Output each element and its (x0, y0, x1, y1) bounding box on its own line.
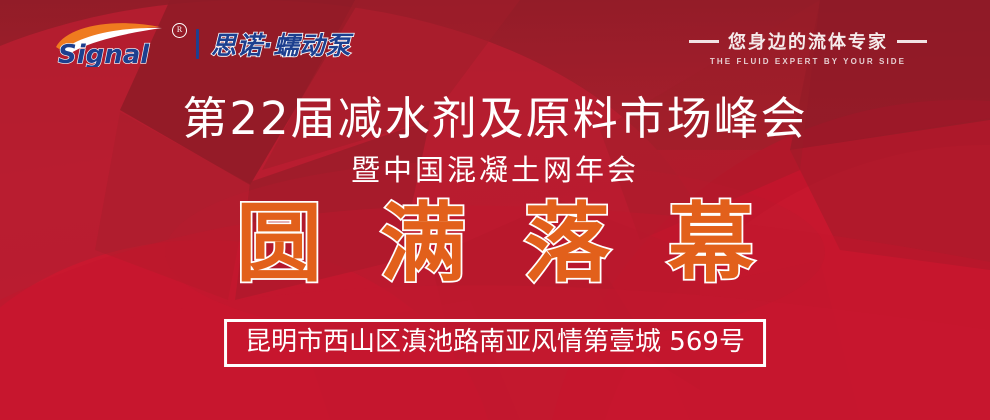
event-status-hero: 圆 满 落 幕 (0, 196, 990, 292)
company-address: 昆明市西山区滇池路南亚风情第壹城 569号 (245, 328, 745, 356)
banner-header: Signal R 思诺·蠕动泵 您身边的流体专家 THE FLUID EXPER… (0, 0, 990, 88)
event-banner: Signal R 思诺·蠕动泵 您身边的流体专家 THE FLUID EXPER… (0, 0, 990, 420)
address-box: 昆明市西山区滇池路南亚风情第壹城 569号 (224, 319, 766, 367)
event-headline: 第22届减水剂及原料市场峰会 (0, 96, 990, 141)
signal-logo-mark: Signal R (52, 21, 174, 67)
swoosh-icon: Signal (52, 21, 174, 67)
event-subheadline: 暨中国混凝土网年会 (0, 156, 990, 185)
svg-text:Signal: Signal (58, 40, 150, 67)
slogan-rule-left (689, 40, 719, 43)
slogan-chinese: 您身边的流体专家 (728, 28, 888, 54)
slogan-rule-right (897, 40, 927, 43)
brand-logo: Signal R 思诺·蠕动泵 (52, 20, 352, 68)
logo-divider (196, 29, 199, 59)
brand-slogan: 您身边的流体专家 THE FLUID EXPERT BY YOUR SIDE (674, 28, 942, 66)
brand-chinese-name: 思诺·蠕动泵 (211, 26, 352, 62)
slogan-english: THE FLUID EXPERT BY YOUR SIDE (674, 57, 942, 66)
registered-trademark-icon: R (172, 23, 187, 38)
